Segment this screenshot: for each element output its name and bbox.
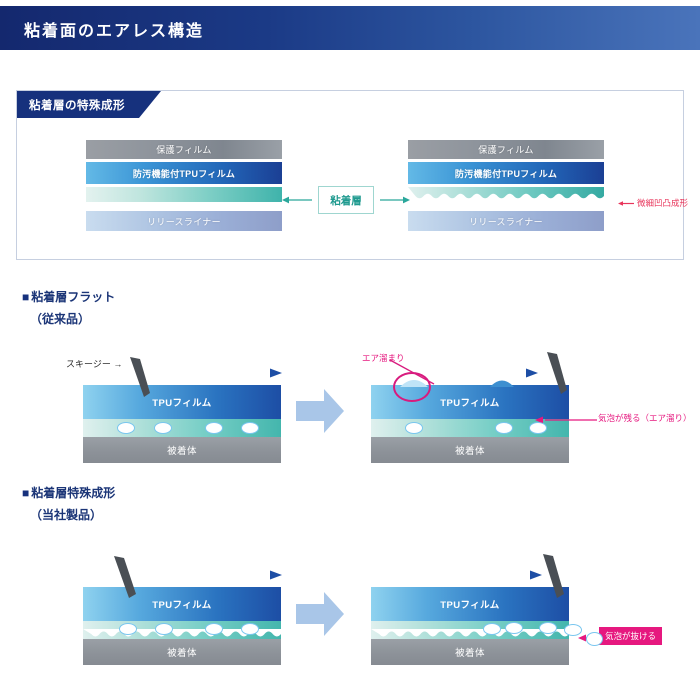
substrate-layer: 被着体: [83, 639, 281, 665]
layer-protect-film-label: 保護フィルム: [156, 143, 211, 156]
process-arrow-icon: [296, 389, 344, 433]
bubble-escape-badge: 気泡が抜ける: [599, 627, 662, 645]
layer-tpu-film: 防汚機能付TPUフィルム: [408, 162, 604, 184]
section-subheading-flat: （従来品）: [30, 310, 90, 327]
tpu-film-label: TPUフィルム: [152, 597, 211, 611]
layer-release-liner: リリースライナー: [86, 211, 282, 231]
air-bubble: [241, 623, 259, 635]
air-bubble: [495, 422, 513, 434]
adhesive-layer-callout-box: 粘着層: [318, 186, 374, 214]
air-bubble: [154, 422, 172, 434]
tpu-film-layer: TPUフィルム: [83, 385, 281, 419]
air-pocket-highlight-circle: [393, 372, 431, 402]
bullet-square-icon: ■: [22, 486, 29, 500]
squeegee-icon: [112, 556, 140, 600]
layer-adhesive-flat: [86, 187, 282, 202]
section-heading-special-label: 粘着層特殊成形: [31, 486, 115, 500]
tpu-film-label: TPUフィルム: [440, 597, 499, 611]
squeegee-icon: [545, 352, 571, 396]
air-bubble: [539, 622, 557, 634]
layer-protect-film-label: 保護フィルム: [478, 143, 533, 156]
section-heading-flat: ■粘着層フラット: [22, 288, 115, 305]
substrate-layer: 被着体: [371, 437, 569, 463]
arrow-left-icon: [282, 193, 312, 207]
squeegee-label: スキージー →: [66, 357, 122, 370]
air-bubble: [205, 623, 223, 635]
section-heading-flat-label: 粘着層フラット: [31, 290, 115, 304]
substrate-layer: 被着体: [371, 639, 569, 665]
layer-release-liner-label: リリースライナー: [469, 215, 543, 228]
panel-tab: 粘着層の特殊成形: [17, 91, 139, 118]
arrow-right-icon: [380, 193, 410, 207]
residual-bubbles-label: 気泡が残る（エア溜り）: [598, 412, 692, 424]
adhesive-layer-callout-label: 粘着層: [330, 193, 362, 208]
diagram-flat-before: TPUフィルム 被着体: [83, 385, 281, 463]
layer-tpu-film-label: 防汚機能付TPUフィルム: [133, 167, 235, 180]
layer-release-liner: リリースライナー: [408, 211, 604, 231]
layer-protect-film: 保護フィルム: [408, 140, 604, 159]
squeegee-icon: [540, 554, 568, 600]
tpu-film-label: TPUフィルム: [152, 395, 211, 409]
air-bubble-escaping: [564, 624, 582, 636]
layer-protect-film: 保護フィルム: [86, 140, 282, 159]
layer-stack-textured: 保護フィルム 防汚機能付TPUフィルム リリースライナー: [408, 140, 604, 231]
air-bubble: [241, 422, 259, 434]
air-bubble: [119, 623, 137, 635]
flow-direction-arrow-icon: [420, 367, 538, 379]
panel-tab-slant-decoration: [139, 91, 161, 118]
layer-adhesive-textured: [408, 187, 604, 202]
page-root: 粘着面のエアレス構造 粘着層の特殊成形 保護フィルム 防汚機能付TPUフィルム …: [0, 0, 700, 700]
layer-stack-flat: 保護フィルム 防汚機能付TPUフィルム リリースライナー: [86, 140, 282, 231]
header-bar: 粘着面のエアレス構造: [0, 6, 700, 50]
page-title: 粘着面のエアレス構造: [24, 17, 204, 41]
surface-bump-icon: [490, 378, 514, 387]
air-bubble: [117, 422, 135, 434]
flow-direction-arrow-icon: [160, 367, 282, 379]
air-bubble: [405, 422, 423, 434]
bullet-square-icon: ■: [22, 290, 29, 304]
substrate-label: 被着体: [455, 645, 485, 659]
squeegee-icon: [128, 357, 154, 399]
tpu-film-label: TPUフィルム: [440, 395, 499, 409]
substrate-label: 被着体: [167, 645, 197, 659]
substrate-layer: 被着体: [83, 437, 281, 463]
layer-tpu-film-label: 防汚機能付TPUフィルム: [455, 167, 557, 180]
process-arrow-icon: [296, 592, 344, 636]
substrate-label: 被着体: [167, 443, 197, 457]
air-bubble: [483, 623, 501, 635]
flow-direction-arrow-icon: [418, 569, 542, 581]
substrate-label: 被着体: [455, 443, 485, 457]
layer-tpu-film: 防汚機能付TPUフィルム: [86, 162, 282, 184]
panel-tab-label: 粘着層の特殊成形: [29, 97, 125, 113]
air-bubble-escaped: [586, 632, 603, 646]
section-subheading-special: （当社製品）: [30, 506, 102, 523]
micro-texture-callout: 微細凹凸成形: [618, 197, 688, 209]
flow-direction-arrow-icon: [150, 569, 282, 581]
air-bubble: [505, 622, 523, 634]
layer-release-liner-label: リリースライナー: [147, 215, 221, 228]
air-bubble: [205, 422, 223, 434]
section-heading-special: ■粘着層特殊成形: [22, 484, 115, 501]
micro-texture-label: 微細凹凸成形: [637, 197, 688, 209]
adhesive-wave-shape: [408, 187, 604, 202]
arrow-left-icon: [618, 199, 634, 208]
air-bubble: [529, 422, 547, 434]
air-bubble: [155, 623, 173, 635]
